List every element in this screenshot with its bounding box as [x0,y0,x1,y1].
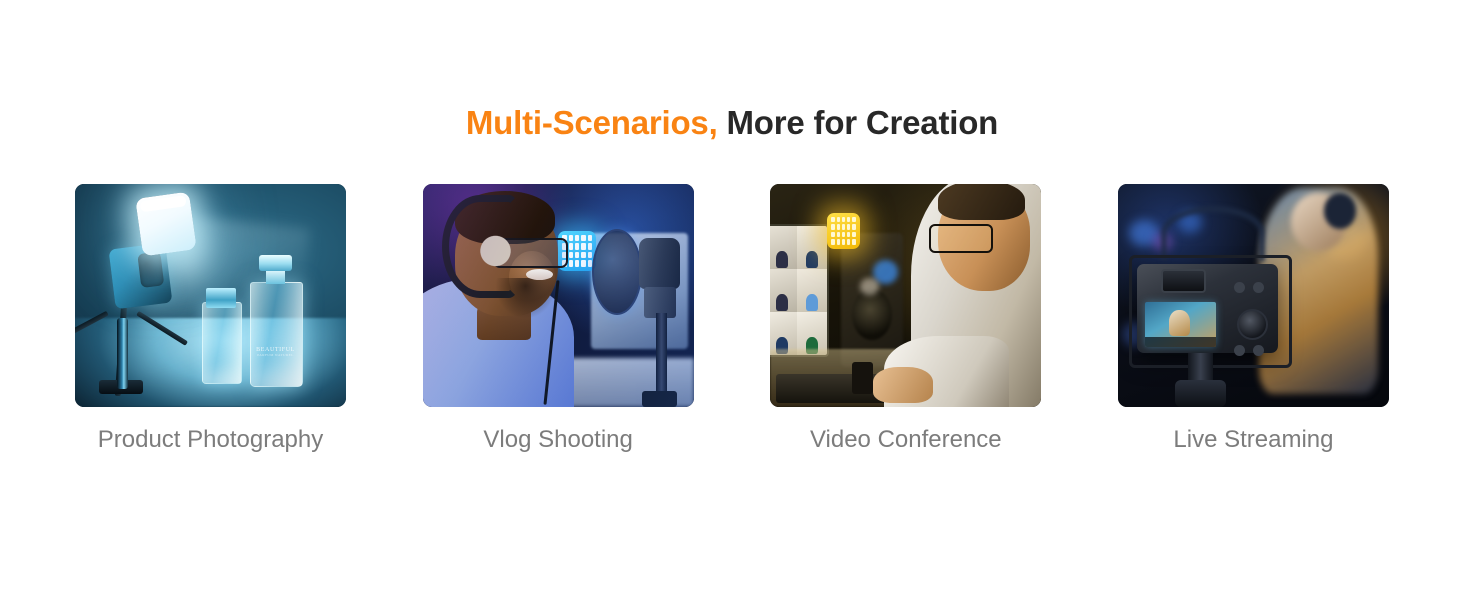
participant-tile [770,226,796,269]
scenario-label-product-photography: Product Photography [98,424,323,456]
video-conference-scene [770,184,1041,407]
video-call-monitor [770,224,828,357]
page-title-accent: Multi-Scenarios, [466,104,718,141]
scenario-label-video-conference: Video Conference [810,424,1002,456]
studio-monitor-speaker [841,233,903,367]
camera-button[interactable] [1234,345,1245,356]
boom-arm [1161,206,1265,261]
participant-tile [770,269,796,312]
perfume-brand-subname: PARFUM NATUREL [250,353,301,357]
eyeglasses-icon [929,224,993,253]
tripod-head [1175,380,1226,407]
page-title-plain: More for Creation [718,104,999,141]
lcd-preview-subject [1169,310,1190,336]
scenario-image-video-conference[interactable] [770,184,1041,407]
perfume-bottle-cap-small [206,288,236,308]
video-call-row [770,226,826,269]
headphones-icon [1324,193,1357,229]
scenario-card-vlog-shooting[interactable]: Vlog Shooting [423,184,694,456]
scenario-image-live-streaming[interactable] [1118,184,1389,407]
scenarios-banner: Multi-Scenarios, More for Creation [0,0,1464,600]
bokeh-light [860,278,879,296]
led-light-head [135,192,197,257]
tripod-column [117,318,128,389]
scenario-card-row: BEAUTIFUL PARFUM NATUREL Product Photogr… [75,184,1389,456]
smartwatch-icon [852,362,874,393]
scenario-card-live-streaming[interactable]: Live Streaming [1118,184,1389,456]
perfume-bottle-large [250,282,303,387]
scenario-card-video-conference[interactable]: Video Conference [770,184,1041,456]
color-light-tint [423,184,694,407]
scenario-card-product-photography[interactable]: BEAUTIFUL PARFUM NATUREL Product Photogr… [75,184,346,456]
camera-lcd-screen [1145,302,1215,347]
camera-button[interactable] [1253,345,1264,356]
participant-tile [797,269,827,312]
vlog-shooting-scene [423,184,694,407]
scenario-image-vlog-shooting[interactable] [423,184,694,407]
scenario-image-product-photography[interactable]: BEAUTIFUL PARFUM NATUREL [75,184,346,407]
person-hair [938,184,1025,220]
perfume-bottle-neck [266,269,285,285]
scenario-label-vlog-shooting: Vlog Shooting [483,424,632,456]
person-hand [873,367,933,403]
participant-tile [797,226,827,269]
camera-viewfinder [1161,269,1206,293]
perfume-bottle-small [202,302,242,384]
video-call-row [770,269,826,312]
perfume-bottle-cap-large [259,255,292,271]
perfume-brand-label: BEAUTIFUL PARFUM NATUREL [250,347,301,357]
camera-control-dial[interactable] [1237,309,1268,340]
scenario-label-live-streaming: Live Streaming [1173,424,1333,456]
live-streaming-scene [1118,184,1389,407]
product-photography-scene: BEAUTIFUL PARFUM NATUREL [75,184,346,407]
page-title: Multi-Scenarios, More for Creation [0,100,1464,146]
yellow-led-panel-icon [827,213,860,249]
